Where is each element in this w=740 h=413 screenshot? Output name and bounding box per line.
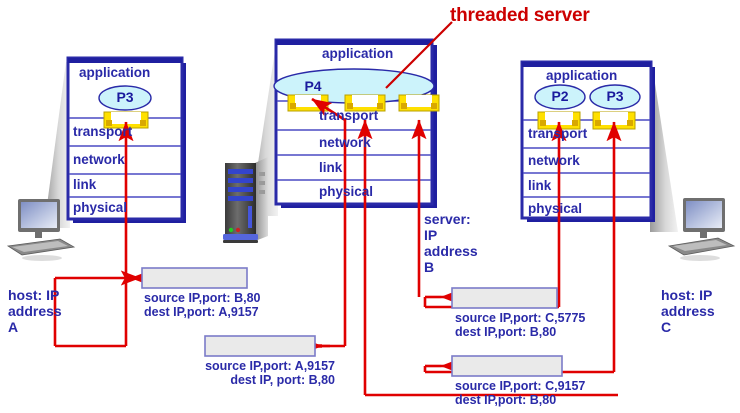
host-a-identity-line-3: A	[8, 319, 18, 335]
packet-1-line-1: source IP,port: A,9157	[205, 359, 335, 373]
packet-1-line-2: dest IP, port: B,80	[230, 373, 335, 387]
server-b-layer-application: application	[322, 47, 393, 62]
host-a-layer-transport: transport	[73, 125, 132, 140]
host-c-identity-line-2: address	[661, 303, 715, 319]
server-b-identity-line-1: server:	[424, 211, 471, 227]
packet-box-a9157-to-b80	[205, 336, 315, 356]
server-b-layer-link: link	[319, 161, 342, 176]
server-b-identity-line-4: B	[424, 259, 434, 275]
packet-3-line-1: source IP,port: C,9157	[455, 379, 585, 393]
host-a-layer-application: application	[79, 66, 150, 81]
host-a-process-p3-label: P3	[109, 90, 141, 105]
server-b-layer-physical: physical	[319, 185, 373, 200]
host-a-identity-line-2: address	[8, 303, 62, 319]
network-sockets-diagram: threaded server application transport ne…	[0, 0, 740, 413]
desktop-computer-icon-right	[669, 198, 734, 261]
host-c-process-p2-label: P2	[544, 89, 576, 104]
server-b-process-p4-label: P4	[296, 79, 330, 94]
host-a-layer-network: network	[73, 153, 125, 168]
server-tower-icon	[223, 157, 268, 243]
server-b-identity-line-2: IP	[424, 227, 437, 243]
host-a-identity-line-1: host: IP	[8, 287, 59, 303]
host-c-layer-physical: physical	[528, 202, 582, 217]
packet-box-c9157-to-b80	[452, 356, 562, 376]
host-c-layer-transport: transport	[528, 127, 587, 142]
packet-2-line-2: dest IP,port: B,80	[455, 325, 556, 339]
host-c-identity-line-1: host: IP	[661, 287, 712, 303]
host-c-protocol-stack	[522, 62, 655, 222]
host-c-process-p3-label: P3	[599, 89, 631, 104]
socket-server-b-2	[399, 95, 439, 111]
host-c-layer-network: network	[528, 154, 580, 169]
packet-label-b80-to-a9157: source IP,port: B,80dest IP,port: A,9157	[144, 291, 260, 319]
host-c-identity-label: host: IPaddressC	[661, 288, 715, 336]
server-b-identity-line-3: address	[424, 243, 478, 259]
packet-label-a9157-to-b80: source IP,port: A,9157dest IP, port: B,8…	[135, 359, 335, 387]
host-a-layer-link: link	[73, 178, 96, 193]
host-c-identity-line-3: C	[661, 319, 671, 335]
host-a-identity-label: host: IPaddressA	[8, 288, 62, 336]
packet-2-line-1: source IP,port: C,5775	[455, 311, 585, 325]
host-c-layer-link: link	[528, 179, 551, 194]
packet-0-line-1: source IP,port: B,80	[144, 291, 260, 305]
server-b-protocol-stack	[276, 40, 437, 208]
packet-0-line-2: dest IP,port: A,9157	[144, 305, 259, 319]
host-c-layer-application: application	[546, 69, 617, 84]
host-a-layer-physical: physical	[73, 201, 127, 216]
packet-3-line-2: dest IP,port: B,80	[455, 393, 556, 407]
packet-label-c5775-to-b80: source IP,port: C,5775dest IP,port: B,80	[455, 311, 585, 339]
server-b-layer-transport: transport	[319, 109, 378, 124]
threaded-server-title: threaded server	[450, 6, 590, 27]
packet-box-c5775-to-b80	[452, 288, 557, 308]
packet-box-b80-to-a9157	[142, 268, 247, 288]
server-b-identity-label: server:IPaddressB	[424, 212, 478, 276]
packet-label-c9157-to-b80: source IP,port: C,9157dest IP,port: B,80	[455, 379, 585, 407]
server-b-layer-network: network	[319, 136, 371, 151]
